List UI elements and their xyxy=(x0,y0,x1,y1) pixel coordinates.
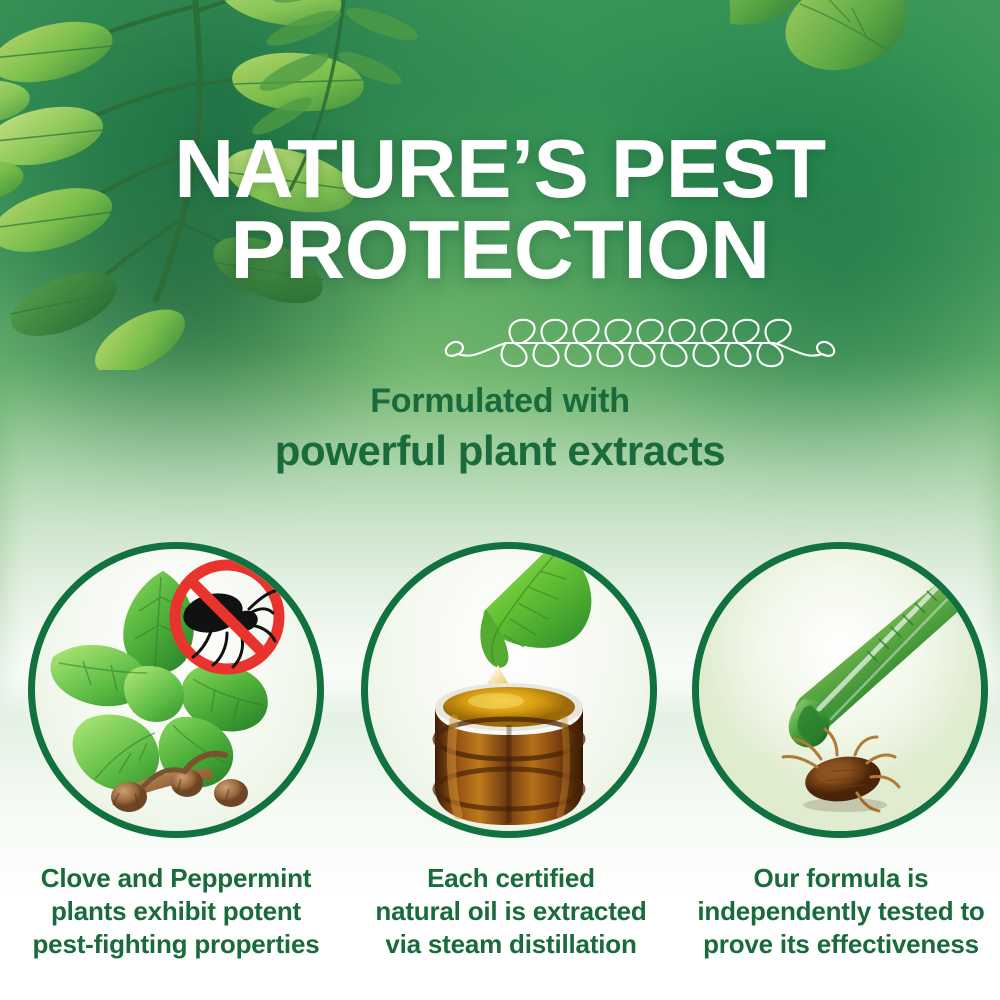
caption-3-line-2: independently tested to xyxy=(676,895,1000,928)
feature-image-1 xyxy=(28,542,324,838)
caption-2-line-1: Each certified xyxy=(346,862,676,895)
caption-2-line-2: natural oil is extracted xyxy=(346,895,676,928)
headline-line-2: PROTECTION xyxy=(0,209,1000,290)
subtitle-line-1: Formulated with xyxy=(0,382,1000,421)
peppermint-clove-no-pest-icon xyxy=(35,549,317,831)
pipette-dead-bug-icon xyxy=(699,549,981,831)
circle-border-3 xyxy=(692,542,988,838)
caption-3-line-1: Our formula is xyxy=(676,862,1000,895)
caption-3-line-3: prove its effectiveness xyxy=(676,928,1000,961)
caption-2-line-3: via steam distillation xyxy=(346,928,676,961)
circle-border-2 xyxy=(361,542,657,838)
feature-caption-2: Each certified natural oil is extracted … xyxy=(346,862,676,960)
feature-image-3 xyxy=(692,542,988,838)
feature-image-2 xyxy=(361,542,657,838)
feature-image-row xyxy=(0,542,1000,842)
feature-caption-1: Clove and Peppermint plants exhibit pote… xyxy=(6,862,346,960)
page-title: NATURE’S PEST PROTECTION xyxy=(0,128,1000,291)
caption-1-line-3: pest-fighting properties xyxy=(6,928,346,961)
leaf-oil-bottle-icon xyxy=(368,549,650,831)
headline-line-1: NATURE’S PEST xyxy=(0,128,1000,209)
feature-caption-row: Clove and Peppermint plants exhibit pote… xyxy=(0,862,1000,972)
laurel-vine-flourish-icon xyxy=(430,312,850,374)
caption-1-line-2: plants exhibit potent xyxy=(6,895,346,928)
poster-canvas: NATURE’S PEST PROTECTION xyxy=(0,0,1000,1000)
subtitle-line-2: powerful plant extracts xyxy=(0,427,1000,475)
no-pest-prohibition-icon xyxy=(175,565,279,669)
circle-border-1 xyxy=(28,542,324,838)
feature-caption-3: Our formula is independently tested to p… xyxy=(676,862,1000,960)
caption-1-line-1: Clove and Peppermint xyxy=(6,862,346,895)
